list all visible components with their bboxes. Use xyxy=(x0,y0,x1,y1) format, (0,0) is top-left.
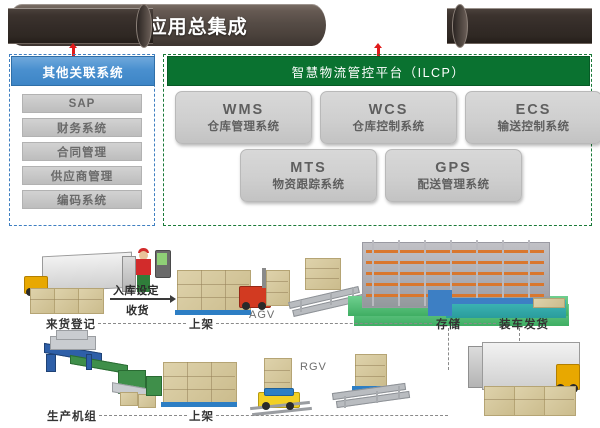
soa-pipe-left xyxy=(8,8,153,44)
module-abbr: WCS xyxy=(369,101,409,119)
module-card-wms[interactable]: WMS 仓库管理系统 xyxy=(175,91,312,144)
logistics-flow-illustration: 入库设定 收货 AGV xyxy=(0,236,600,428)
other-systems-header: 其他关联系统 xyxy=(11,56,155,86)
flow-connector-1 xyxy=(98,323,186,324)
flow-connector-5 xyxy=(216,415,448,416)
module-name: 仓库管理系统 xyxy=(208,119,280,135)
module-card-mts[interactable]: MTS 物资跟踪系统 xyxy=(240,149,377,202)
agv-label: AGV xyxy=(249,309,275,321)
flow-connector-2 xyxy=(216,323,432,324)
ilcp-header-label: 智慧物流管控平台（ILCP） xyxy=(292,62,466,81)
flow-label-putaway-bottom: 上架 xyxy=(189,408,214,424)
flow-label-putaway-top: 上架 xyxy=(189,316,214,332)
list-item[interactable]: 供应商管理 xyxy=(22,166,142,185)
inbound-set-label: 入库设定 xyxy=(113,282,159,298)
module-name: 配送管理系统 xyxy=(418,177,490,193)
soa-pipe-cap-left xyxy=(136,4,152,48)
module-card-ecs[interactable]: ECS 输送控制系统 xyxy=(465,91,600,144)
other-systems-header-label: 其他关联系统 xyxy=(42,62,123,81)
soa-integration-bar: SOA应用总集成 xyxy=(8,4,592,46)
inbound-arrow-line xyxy=(110,298,172,300)
module-card-wcs[interactable]: WCS 仓库控制系统 xyxy=(320,91,457,144)
module-name: 物资跟踪系统 xyxy=(273,177,345,193)
list-item[interactable]: 编码系统 xyxy=(22,190,142,209)
ilcp-header: 智慧物流管控平台（ILCP） xyxy=(167,56,590,86)
rgv-label: RGV xyxy=(300,361,327,373)
receiving-label: 收货 xyxy=(126,302,149,318)
module-name: 输送控制系统 xyxy=(498,119,570,135)
list-item[interactable]: 合同管理 xyxy=(22,142,142,161)
list-item[interactable]: 财务系统 xyxy=(22,118,142,137)
soa-pipe-right xyxy=(447,8,592,44)
flow-connector-3 xyxy=(464,323,496,324)
flow-connector-vertical-storage xyxy=(448,328,449,370)
module-name: 仓库控制系统 xyxy=(353,119,425,135)
flow-label-loading-shipment: 装车发货 xyxy=(499,316,549,332)
module-abbr: MTS xyxy=(290,159,327,177)
module-abbr: GPS xyxy=(435,159,472,177)
module-card-gps[interactable]: GPS 配送管理系统 xyxy=(385,149,522,202)
module-abbr: WMS xyxy=(223,101,264,119)
inbound-arrow-head xyxy=(170,295,176,303)
module-abbr: ECS xyxy=(516,101,552,119)
flow-label-production-line: 生产机组 xyxy=(47,408,97,424)
ilcp-modules-row-2: MTS 物资跟踪系统 GPS 配送管理系统 xyxy=(240,149,522,202)
soa-pipe-cap-right xyxy=(452,4,468,48)
other-systems-list: SAP 财务系统 合同管理 供应商管理 编码系统 xyxy=(22,94,142,214)
ilcp-modules-row-1: WMS 仓库管理系统 WCS 仓库控制系统 ECS 输送控制系统 xyxy=(175,91,600,144)
soa-title-cn: 应用总集成 xyxy=(148,17,248,38)
list-item[interactable]: SAP xyxy=(22,94,142,113)
flow-connector-4 xyxy=(99,415,187,416)
